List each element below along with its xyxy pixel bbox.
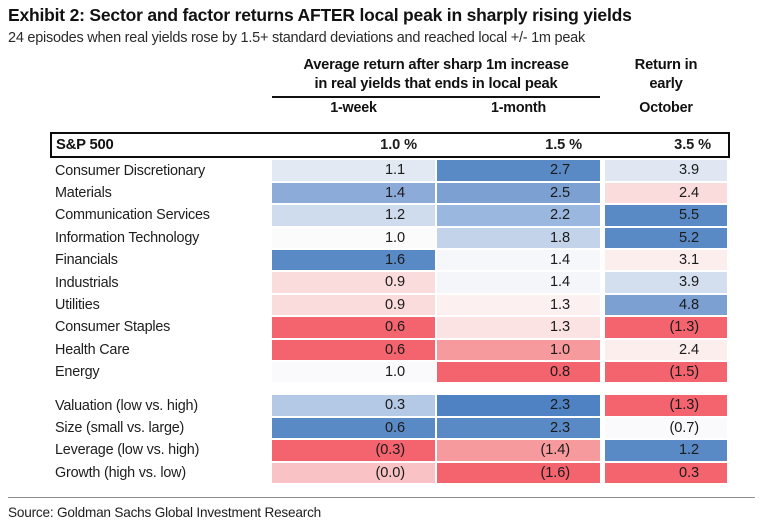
row-label: Consumer Discretionary [55,163,205,179]
table-row: Valuation (low vs. high)0.32.3(1.3) [0,394,763,416]
heatmap-cell-october: 1.2 [605,440,727,460]
heatmap-cell-1-month: 1.0 [437,340,600,360]
column-header-1-week: 1-week [272,100,435,116]
heatmap-cell-october: 5.2 [605,228,727,248]
table-row: Consumer Staples0.61.3(1.3) [0,316,763,338]
benchmark-value-october: 3.5 % [605,135,727,155]
table-row: Growth (high vs. low)(0.0)(1.6)0.3 [0,462,763,484]
heatmap-cell-1-month: (1.6) [437,463,600,483]
row-label: Energy [55,364,99,380]
heatmap-cell-1-month: 1.8 [437,228,600,248]
heatmap-cell-october: 4.8 [605,295,727,315]
heatmap-cell-october: (1.3) [605,317,727,337]
heatmap-cell-1-month: 2.7 [437,160,600,180]
row-label: Growth (high vs. low) [55,465,186,481]
column-header-block: Average return after sharp 1m increase i… [0,56,763,130]
title-block: Exhibit 2: Sector and factor returns AFT… [0,0,763,48]
column-group-header-october: Return in early [605,56,727,94]
heatmap-cell-1-month: 2.2 [437,205,600,225]
row-label: Size (small vs. large) [55,420,184,436]
table-row: Size (small vs. large)0.62.3(0.7) [0,417,763,439]
benchmark-row-sp500: S&P 500 1.0 % 1.5 % 3.5 % [0,132,763,158]
table-row: Energy1.00.8(1.5) [0,361,763,383]
heatmap-cell-1-week: (0.0) [272,463,435,483]
heatmap-cell-1-week: 1.0 [272,362,435,382]
heatmap-cell-october: 2.4 [605,340,727,360]
heatmap-cell-1-month: 2.5 [437,183,600,203]
heatmap-cell-october: (1.5) [605,362,727,382]
heatmap-cell-1-week: 1.2 [272,205,435,225]
heatmap-cell-1-week: 0.9 [272,272,435,292]
heatmap-cell-1-week: 0.3 [272,395,435,415]
heatmap-cell-1-month: (1.4) [437,440,600,460]
heatmap-cell-1-month: 0.8 [437,362,600,382]
heatmap-cell-1-month: 1.3 [437,295,600,315]
row-label: Leverage (low vs. high) [55,442,199,458]
heatmap-cell-1-month: 1.3 [437,317,600,337]
heatmap-cell-october: (0.7) [605,418,727,438]
heatmap-cell-1-week: 1.0 [272,228,435,248]
table-row: Industrials0.91.43.9 [0,271,763,293]
table-row: Consumer Discretionary1.12.73.9 [0,159,763,181]
heatmap-cell-1-week: (0.3) [272,440,435,460]
table-row: Health Care0.61.02.4 [0,339,763,361]
column-group-header-line2: in real yields that ends in local peak [272,75,600,94]
heatmap-cell-1-week: 0.6 [272,340,435,360]
returns-heatmap-table: Average return after sharp 1m increase i… [0,56,763,483]
heatmap-cell-1-month: 2.3 [437,418,600,438]
exhibit-title: Exhibit 2: Sector and factor returns AFT… [8,5,755,27]
heatmap-cell-1-week: 0.6 [272,418,435,438]
benchmark-value-1-week: 1.0 % [272,135,435,155]
column-header-october: October [605,100,727,116]
heatmap-cell-1-week: 1.1 [272,160,435,180]
benchmark-value-1-month: 1.5 % [437,135,600,155]
benchmark-label: S&P 500 [56,137,114,153]
heatmap-rows: Consumer Discretionary1.12.73.9Materials… [0,159,763,483]
row-label: Utilities [55,297,100,313]
heatmap-cell-1-week: 1.6 [272,250,435,270]
row-label: Materials [55,185,112,201]
heatmap-cell-october: 3.9 [605,272,727,292]
heatmap-cell-october: 3.9 [605,160,727,180]
row-label: Consumer Staples [55,319,170,335]
column-group-header-average-return: Average return after sharp 1m increase i… [272,56,600,98]
heatmap-cell-october: 5.5 [605,205,727,225]
heatmap-cell-1-week: 1.4 [272,183,435,203]
column-header-1-month: 1-month [437,100,600,116]
table-row: Utilities0.91.34.8 [0,294,763,316]
row-label: Financials [55,252,118,268]
table-row: Materials1.42.52.4 [0,182,763,204]
row-label: Valuation (low vs. high) [55,398,198,414]
heatmap-cell-1-month: 1.4 [437,250,600,270]
heatmap-cell-1-week: 0.6 [272,317,435,337]
heatmap-cell-october: (1.3) [605,395,727,415]
exhibit-subtitle: 24 episodes when real yields rose by 1.5… [8,29,755,49]
heatmap-cell-1-month: 1.4 [437,272,600,292]
row-label: Communication Services [55,207,210,223]
row-label: Industrials [55,275,118,291]
heatmap-cell-october: 2.4 [605,183,727,203]
footer-divider [8,497,755,498]
heatmap-cell-october: 0.3 [605,463,727,483]
table-row: Communication Services1.22.25.5 [0,204,763,226]
table-row: Financials1.61.43.1 [0,249,763,271]
column-group-header-october-line2: early [605,75,727,94]
footer: Source: Goldman Sachs Global Investment … [0,497,763,520]
heatmap-cell-1-month: 2.3 [437,395,600,415]
heatmap-cell-1-week: 0.9 [272,295,435,315]
row-label: Health Care [55,342,130,358]
column-group-rule [272,96,600,98]
column-group-header-october-line1: Return in [605,56,727,75]
table-row: Information Technology1.01.85.2 [0,227,763,249]
row-label: Information Technology [55,230,199,246]
table-row: Leverage (low vs. high)(0.3)(1.4)1.2 [0,439,763,461]
source-note: Source: Goldman Sachs Global Investment … [8,505,755,520]
group-spacer [0,383,763,394]
column-group-header-line1: Average return after sharp 1m increase [272,56,600,75]
heatmap-cell-october: 3.1 [605,250,727,270]
